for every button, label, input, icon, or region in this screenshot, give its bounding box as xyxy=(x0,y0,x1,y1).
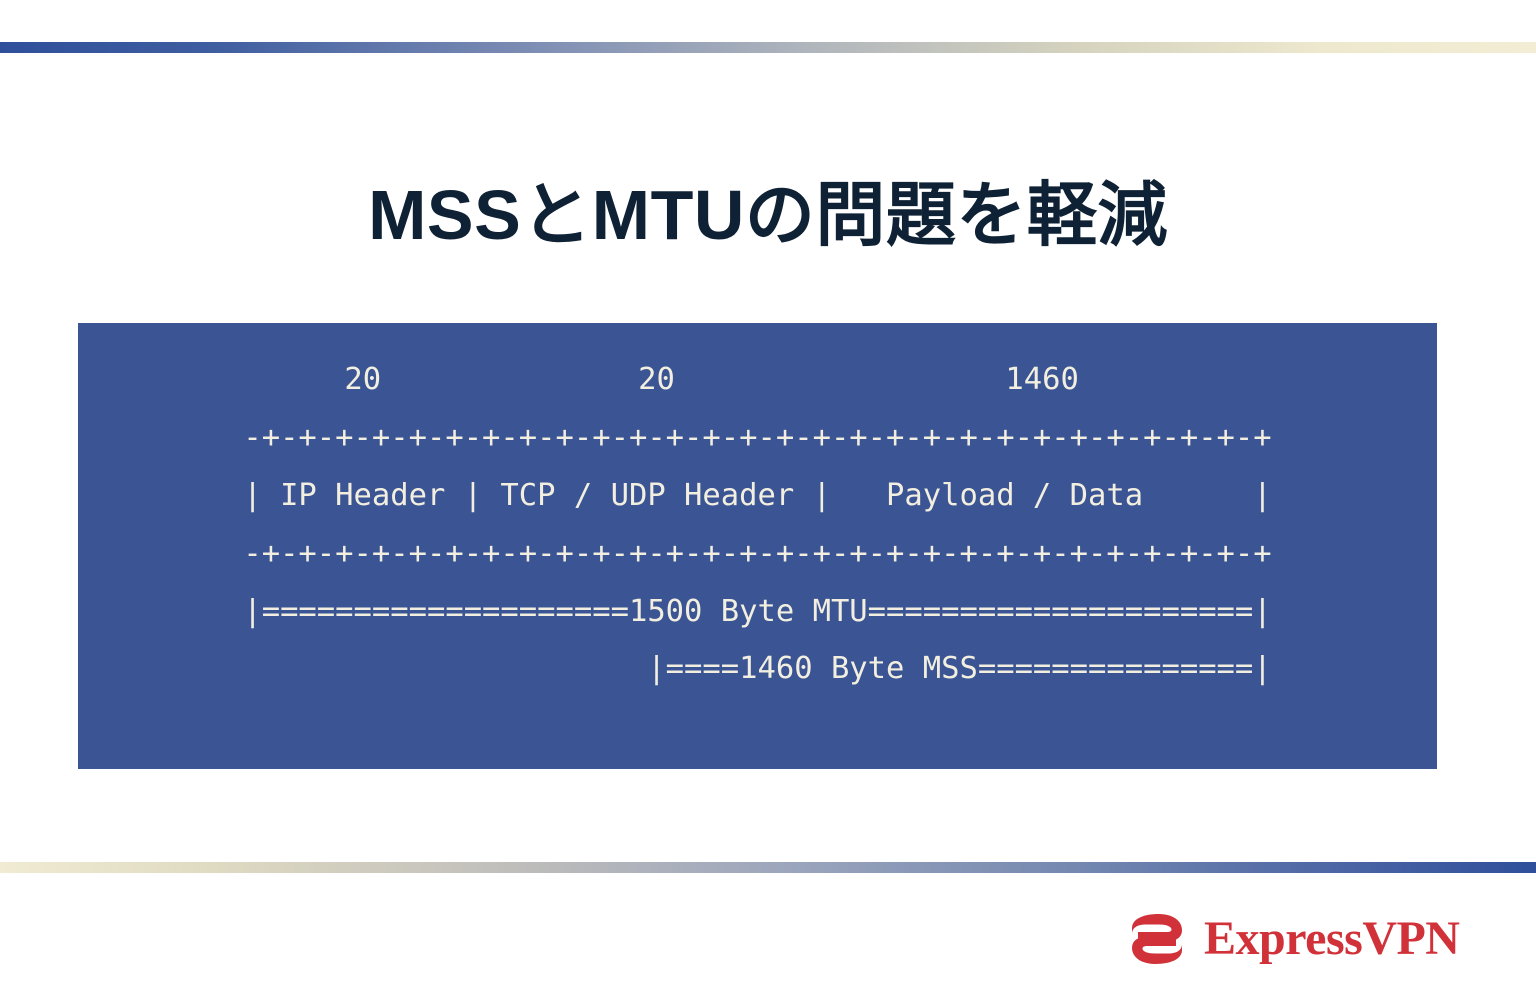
ascii-line-fields: | IP Header | TCP / UDP Header | Payload… xyxy=(78,467,1437,525)
ascii-line-mtu: |====================1500 Byte MTU======… xyxy=(78,583,1437,640)
ascii-line-separator-bottom: -+-+-+-+-+-+-+-+-+-+-+-+-+-+-+-+-+-+-+-+… xyxy=(78,525,1437,583)
bottom-gradient-rule xyxy=(0,862,1536,873)
page-title: MSSとMTUの問題を軽減 xyxy=(0,171,1536,259)
ascii-line-sizes: 20 20 1460 xyxy=(78,351,1437,409)
ascii-line-separator-top: -+-+-+-+-+-+-+-+-+-+-+-+-+-+-+-+-+-+-+-+… xyxy=(78,409,1437,467)
expressvpn-wordmark: ExpressVPN xyxy=(1204,913,1459,965)
ascii-diagram-panel: 20 20 1460 -+-+-+-+-+-+-+-+-+-+-+-+-+-+-… xyxy=(78,323,1437,769)
ascii-line-mss: |====1460 Byte MSS===============| xyxy=(78,640,1437,697)
expressvpn-e-logo-icon xyxy=(1126,908,1188,970)
expressvpn-logo: ExpressVPN xyxy=(1126,903,1448,975)
top-gradient-rule xyxy=(0,42,1536,53)
slide-root: MSSとMTUの問題を軽減 20 20 1460 -+-+-+-+-+-+-+-… xyxy=(0,0,1536,1004)
ascii-diagram-body: 20 20 1460 -+-+-+-+-+-+-+-+-+-+-+-+-+-+-… xyxy=(78,351,1437,697)
